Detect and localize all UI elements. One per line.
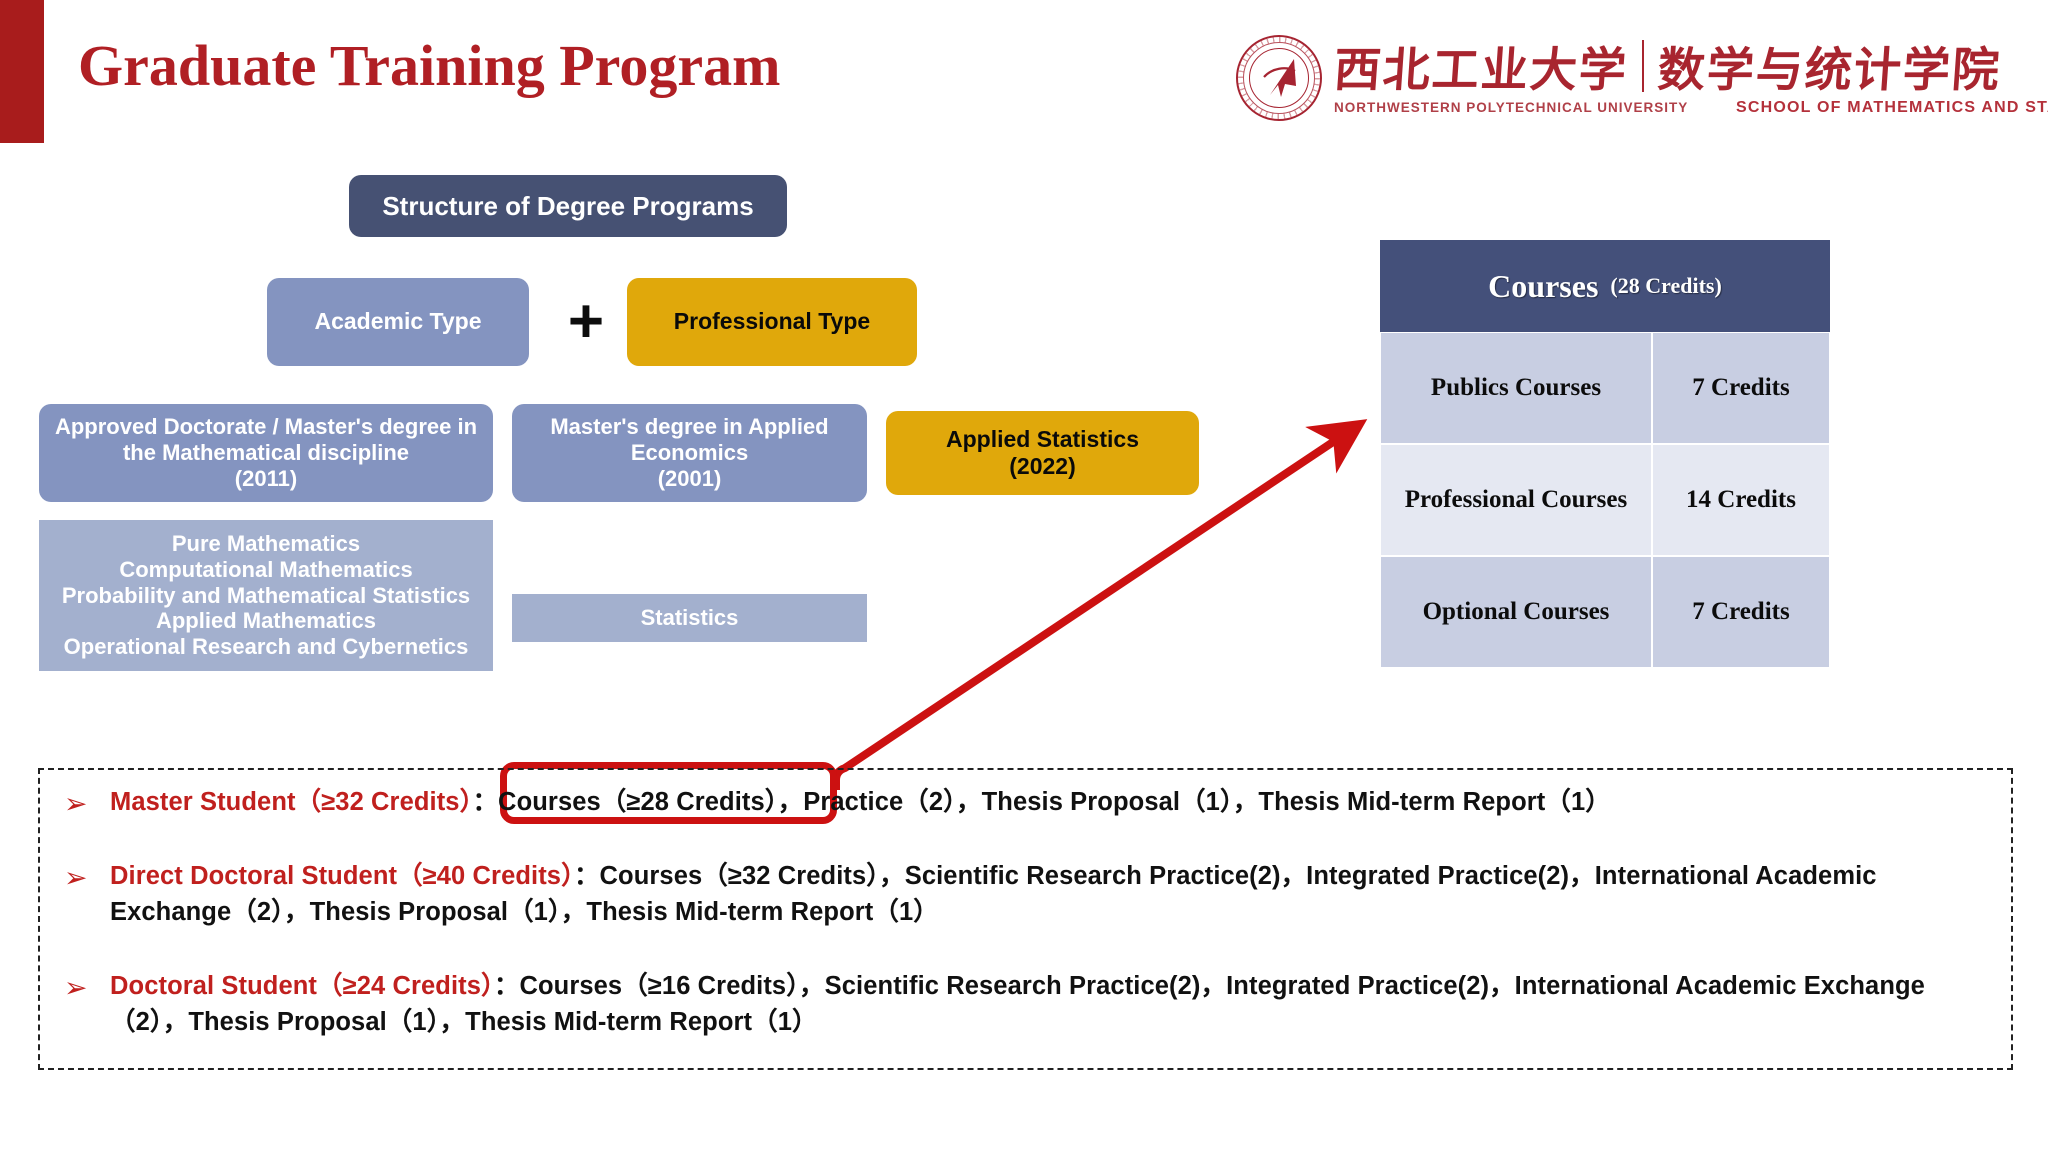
- bullet-arrow-icon: ➢: [64, 858, 110, 895]
- box-approved-degree: Approved Doctorate / Master's degree in …: [39, 404, 493, 502]
- box-academic-type: Academic Type: [267, 278, 529, 366]
- bullet-arrow-icon: ➢: [64, 968, 110, 1005]
- requirement-text: Direct Doctoral Student（≥40 Credits）：Cou…: [110, 858, 1984, 930]
- courses-credits-table: Courses (28 Credits) Publics Courses 7 C…: [1380, 240, 1830, 668]
- plus-icon: +: [558, 292, 614, 352]
- box-applied-statistics: Applied Statistics(2022): [886, 411, 1199, 495]
- table-cell-credits: 14 Credits: [1652, 444, 1830, 556]
- university-logo: 西北工业大学 数学与统计学院 NORTHWESTERN POLYTECHNICA…: [1236, 24, 2016, 132]
- page-title: Graduate Training Program: [78, 32, 780, 99]
- box-structure-of-degree-programs: Structure of Degree Programs: [349, 175, 787, 237]
- box-mathematics-disciplines: Pure MathematicsComputational Mathematic…: [39, 520, 493, 671]
- logo-cn-school: 数学与统计学院: [1656, 47, 2002, 94]
- logo-divider: [1642, 40, 1644, 92]
- table-cell-course-name: Publics Courses: [1380, 332, 1652, 444]
- degree-requirements-panel: ➢ Master Student（≥32 Credits）：Courses（≥2…: [38, 768, 2013, 1070]
- box-masters-applied-economics: Master's degree in Applied Economics(200…: [512, 404, 867, 502]
- logo-cn-university: 西北工业大学: [1332, 47, 1629, 94]
- accent-bar: [0, 0, 44, 143]
- box-professional-type: Professional Type: [627, 278, 917, 366]
- table-cell-credits: 7 Credits: [1652, 556, 1830, 668]
- list-item: ➢ Doctoral Student（≥24 Credits）：Courses（…: [64, 968, 1984, 1040]
- requirement-label: Direct Doctoral Student（≥40 Credits）: [110, 862, 574, 890]
- logo-en-university: NORTHWESTERN POLYTECHNICAL UNIVERSITY: [1334, 100, 1728, 115]
- requirement-text: Master Student（≥32 Credits）：Courses（≥28 …: [110, 784, 1611, 820]
- logo-en-school: SCHOOL OF MATHEMATICS AND STATISTICS: [1736, 99, 2048, 117]
- requirement-label: Doctoral Student（≥24 Credits）: [110, 972, 494, 1000]
- table-cell-course-name: Optional Courses: [1380, 556, 1652, 668]
- slide-canvas: Graduate Training Program 西北工业大学 数学与统计学院…: [0, 0, 2048, 1152]
- table-cell-course-name: Professional Courses: [1380, 444, 1652, 556]
- requirement-label: Master Student（≥32 Credits）: [110, 788, 472, 816]
- university-seal-icon: [1236, 35, 1322, 121]
- table-row: Professional Courses 14 Credits: [1380, 444, 1830, 556]
- courses-table-header: Courses (28 Credits): [1380, 240, 1830, 332]
- seal-emblem-icon: [1258, 55, 1300, 101]
- table-cell-credits: 7 Credits: [1652, 332, 1830, 444]
- requirement-text: Doctoral Student（≥24 Credits）：Courses（≥1…: [110, 968, 1984, 1040]
- box-statistics: Statistics: [512, 594, 867, 642]
- list-item: ➢ Master Student（≥32 Credits）：Courses（≥2…: [64, 784, 1984, 821]
- list-item: ➢ Direct Doctoral Student（≥40 Credits）：C…: [64, 858, 1984, 930]
- table-row: Optional Courses 7 Credits: [1380, 556, 1830, 668]
- courses-header-credits: (28 Credits): [1610, 273, 1721, 299]
- bullet-arrow-icon: ➢: [64, 784, 110, 821]
- courses-header-title: Courses: [1488, 268, 1598, 305]
- table-row: Publics Courses 7 Credits: [1380, 332, 1830, 444]
- requirement-detail: ：Courses（≥28 Credits），Practice（2），Thesis…: [472, 788, 1610, 816]
